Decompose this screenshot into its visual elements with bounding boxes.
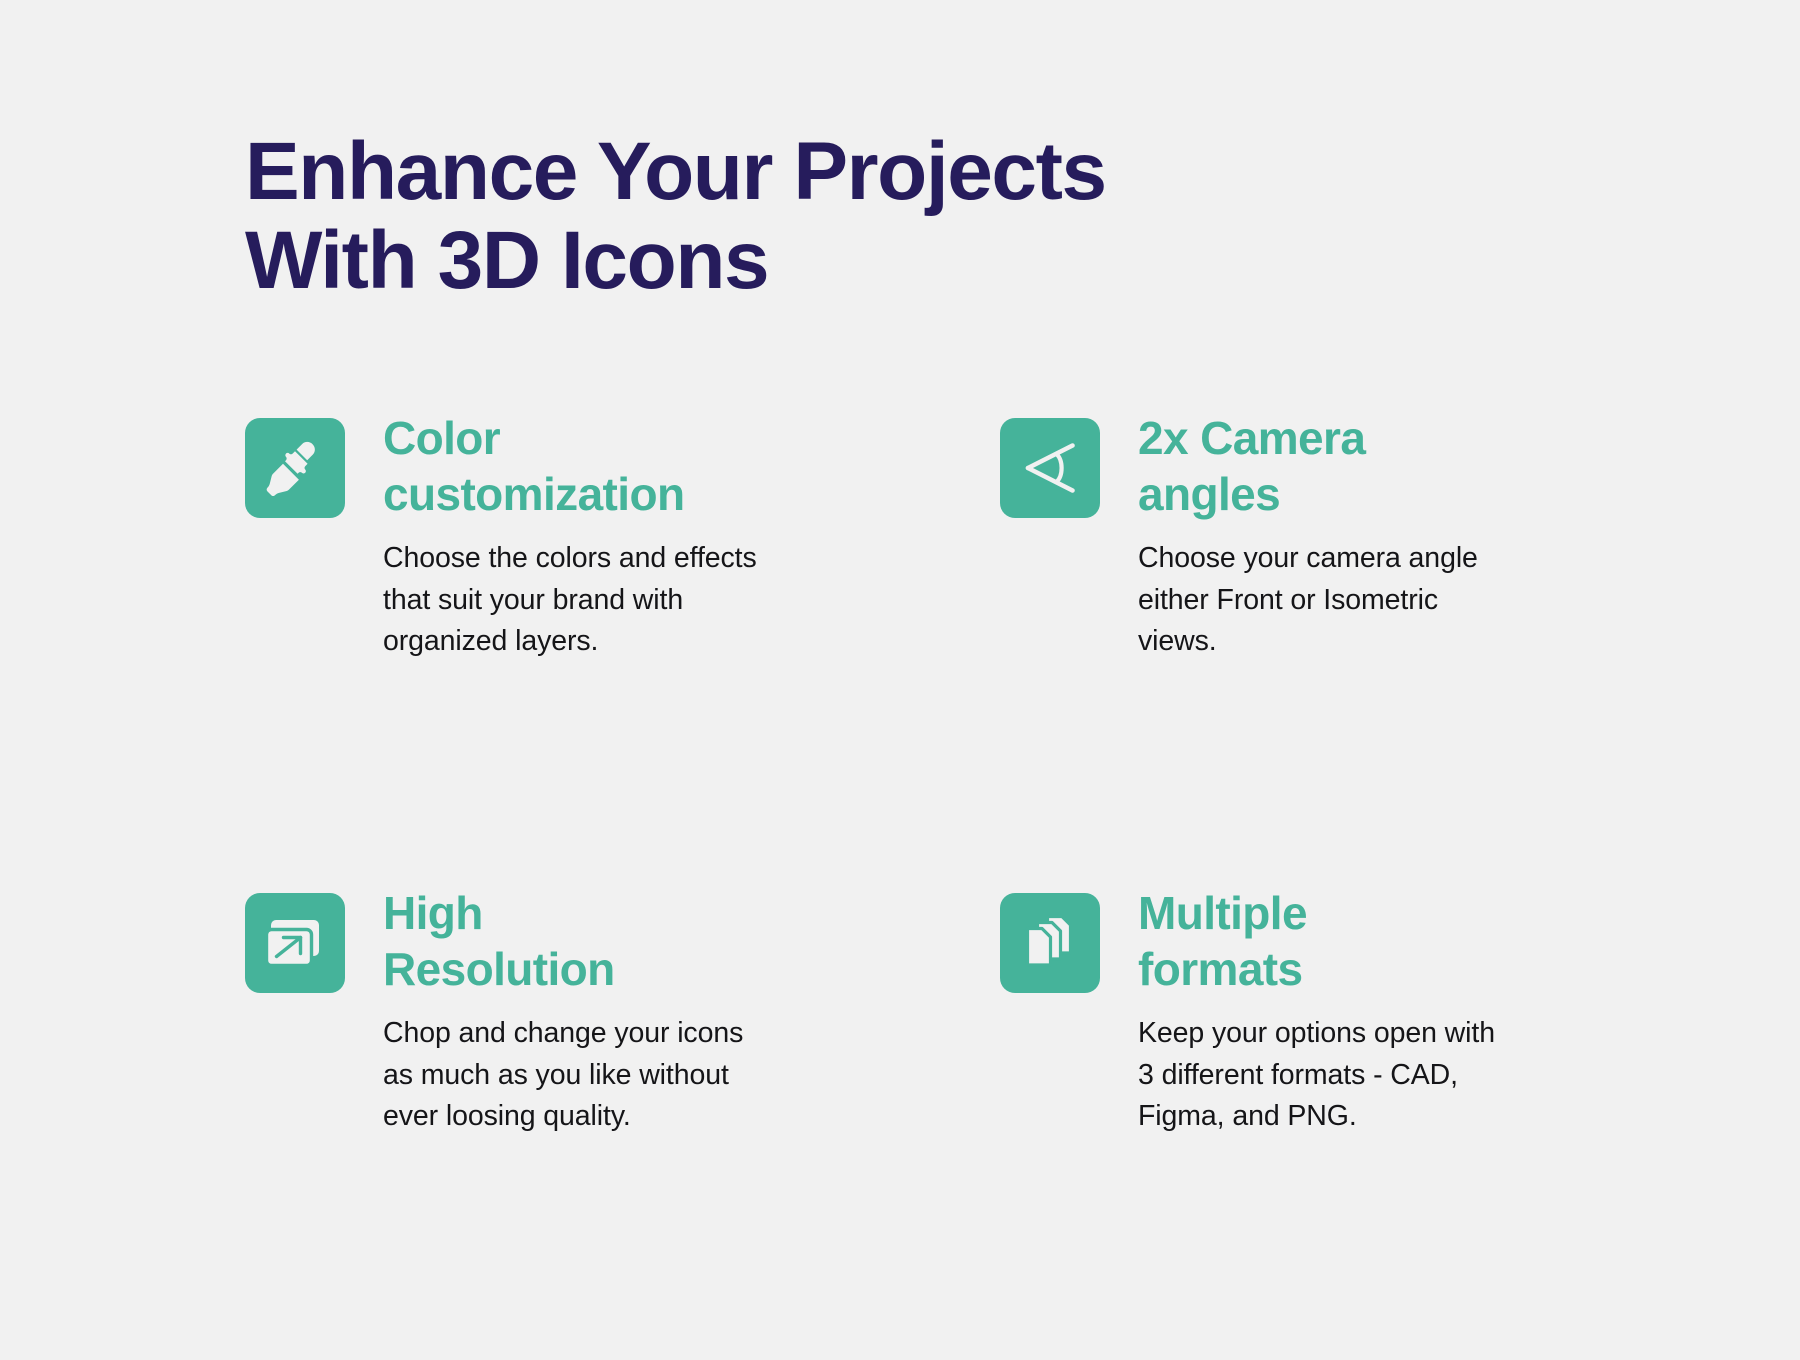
feature-description: Chop and change your icons as much as yo… <box>383 1013 813 1138</box>
feature-item-multiple-formats: Multiple formats Keep your options open … <box>1000 885 1645 1138</box>
eyedropper-icon <box>245 418 345 518</box>
feature-title: High Resolution <box>383 885 1000 997</box>
stacked-files-icon <box>1000 893 1100 993</box>
feature-item-camera-angles: 2x Camera angles Choose your camera angl… <box>1000 410 1645 663</box>
feature-text-block: Multiple formats Keep your options open … <box>1138 885 1645 1138</box>
feature-grid: Color customization Choose the colors an… <box>245 410 1645 1138</box>
page-title: Enhance Your Projects With 3D Icons <box>245 128 1345 305</box>
feature-text-block: 2x Camera angles Choose your camera angl… <box>1138 410 1645 663</box>
feature-item-high-resolution: High Resolution Chop and change your ico… <box>245 885 1000 1138</box>
feature-text-block: High Resolution Chop and change your ico… <box>383 885 1000 1138</box>
feature-title: Color customization <box>383 410 1000 522</box>
feature-title: Multiple formats <box>1138 885 1645 997</box>
feature-description: Keep your options open with 3 different … <box>1138 1013 1578 1138</box>
feature-title: 2x Camera angles <box>1138 410 1645 522</box>
poster-canvas: Enhance Your Projects With 3D Icons Colo… <box>0 0 1800 1360</box>
feature-item-color-customization: Color customization Choose the colors an… <box>245 410 1000 663</box>
feature-description: Choose the colors and effects that suit … <box>383 538 813 663</box>
expand-resolution-icon <box>245 893 345 993</box>
hero-section: Enhance Your Projects With 3D Icons <box>245 128 1345 305</box>
feature-description: Choose your camera angle either Front or… <box>1138 538 1578 663</box>
feature-text-block: Color customization Choose the colors an… <box>383 410 1000 663</box>
camera-angle-icon <box>1000 418 1100 518</box>
